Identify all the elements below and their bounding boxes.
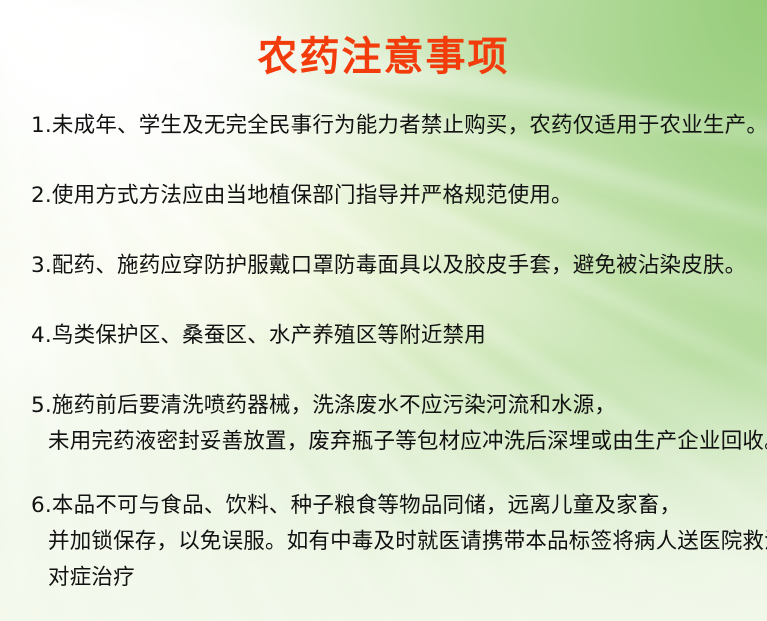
pesticide-precautions-poster: 农药注意事项 1.未成年、学生及无完全民事行为能力者禁止购买，农药仅适用于农业生… <box>0 0 767 621</box>
precaution-line-primary: 6.本品不可与食品、饮料、种子粮食等物品同储，远离儿童及家畜， <box>31 491 749 521</box>
precaution-item: 4.鸟类保护区、桑蚕区、水产养殖区等附近禁用 <box>31 321 749 351</box>
precaution-item: 1.未成年、学生及无完全民事行为能力者禁止购买，农药仅适用于农业生产。 <box>31 111 749 141</box>
precaution-line-continued: 未用完药液密封妥善放置，废弃瓶子等包材应冲洗后深埋或由生产企业回收。 <box>31 427 749 457</box>
precaution-line-continued: 并加锁保存，以免误服。如有中毒及时就医请携带本品标签将病人送医院救治 <box>31 527 749 557</box>
precaution-item: 6.本品不可与食品、饮料、种子粮食等物品同储，远离儿童及家畜，并加锁保存，以免误… <box>31 491 749 593</box>
precaution-item: 3.配药、施药应穿防护服戴口罩防毒面具以及胶皮手套，避免被沾染皮肤。 <box>31 251 749 281</box>
precaution-line-primary: 3.配药、施药应穿防护服戴口罩防毒面具以及胶皮手套，避免被沾染皮肤。 <box>31 251 749 281</box>
precaution-item: 2.使用方式方法应由当地植保部门指导并严格规范使用。 <box>31 181 749 211</box>
precautions-list: 1.未成年、学生及无完全民事行为能力者禁止购买，农药仅适用于农业生产。2.使用方… <box>31 111 749 593</box>
precaution-line-continued: 对症治疗 <box>31 563 749 593</box>
poster-content: 农药注意事项 1.未成年、学生及无完全民事行为能力者禁止购买，农药仅适用于农业生… <box>0 0 767 621</box>
page-title: 农药注意事项 <box>0 33 767 81</box>
precaution-line-primary: 1.未成年、学生及无完全民事行为能力者禁止购买，农药仅适用于农业生产。 <box>31 111 749 141</box>
precaution-line-primary: 4.鸟类保护区、桑蚕区、水产养殖区等附近禁用 <box>31 321 749 351</box>
precaution-line-primary: 5.施药前后要清洗喷药器械，洗涤废水不应污染河流和水源， <box>31 391 749 421</box>
precaution-item: 5.施药前后要清洗喷药器械，洗涤废水不应污染河流和水源，未用完药液密封妥善放置，… <box>31 391 749 457</box>
precaution-line-primary: 2.使用方式方法应由当地植保部门指导并严格规范使用。 <box>31 181 749 211</box>
